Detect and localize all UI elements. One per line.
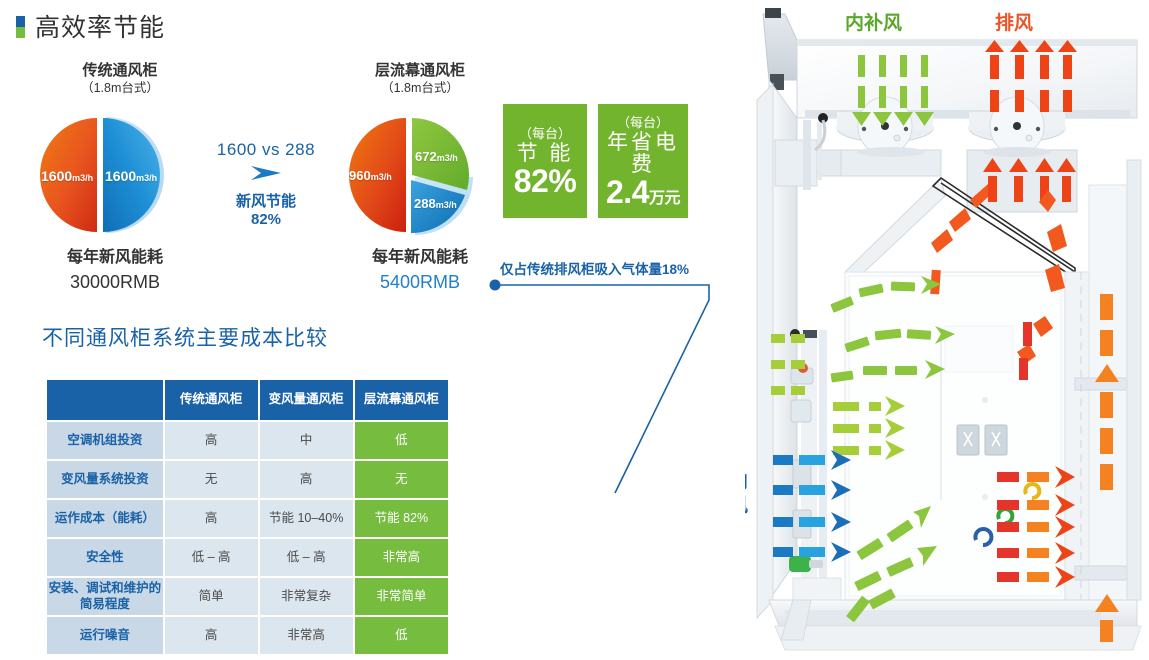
laminar-hood-pie-chart: 960m3/h 672m3/h 288m3/h — [345, 114, 473, 236]
pie-right-slice-1-label: 960m3/h — [349, 168, 392, 183]
pie-right-slice-3-unit: m3/h — [436, 200, 457, 210]
label-indoor-line2: 新风 — [745, 494, 748, 518]
row-label-hvac-investment: 空调机组投资 — [47, 422, 163, 459]
badge-annual-savings-number: 2.4 — [606, 174, 649, 210]
traditional-hood-annual-cost: 每年新风能耗 30000RMB — [20, 248, 210, 294]
row-label-installation-ease: 安装、调试和维护的简易程度 — [47, 578, 163, 615]
table-header-laminar: 层流幕通风柜 — [355, 380, 448, 420]
pie-left-slice-1-value: 1600 — [41, 168, 72, 184]
table-header-vav: 变风量通风柜 — [260, 380, 353, 420]
fresh-air-saving-label: 新风节能 — [196, 190, 336, 211]
pie-right-slice-1-unit: m3/h — [371, 172, 392, 182]
cell-opcost-laminar: 节能 82% — [355, 500, 448, 537]
row-label-noise: 运行噪音 — [47, 617, 163, 654]
badge-annual-savings-title: 年省电费 — [598, 132, 688, 176]
pie-left-slice-2-label: 1600m3/h — [105, 168, 157, 184]
badge-annual-savings-unit: 万元 — [649, 190, 680, 207]
table-header-traditional: 传统通风柜 — [165, 380, 258, 420]
cell-safety-laminar: 非常高 — [355, 539, 448, 576]
laminar-annual-value: 5400RMB — [330, 271, 510, 294]
pie-left-slice-2-unit: m3/h — [136, 173, 157, 183]
badge-annual-savings-sub: （每台） — [617, 112, 669, 131]
pie-right-slice-2-unit: m3/h — [437, 153, 458, 163]
badge-energy-saving-title: 节 能 — [517, 143, 574, 165]
page-title: 高效率节能 — [16, 8, 165, 44]
cell-install-vav: 非常复杂 — [260, 578, 353, 615]
cell-noise-traditional: 高 — [165, 617, 258, 654]
cell-noise-laminar: 低 — [355, 617, 448, 654]
table-row: 空调机组投资 高 中 低 — [47, 422, 448, 459]
right-arrow-icon — [196, 163, 336, 188]
laminar-hood-spec: （1.8m台式） — [330, 81, 510, 97]
pie-left-slice-1-label: 1600m3/h — [41, 168, 93, 184]
pie-right-slice-1-value: 960 — [349, 168, 371, 183]
fresh-air-saving-value: 82% — [196, 211, 336, 228]
cell-install-traditional: 简单 — [165, 578, 258, 615]
traditional-hood-name: 传统通风柜 — [20, 62, 220, 81]
label-indoor-fresh-air: 室内 新风 — [745, 470, 748, 518]
badge-energy-saving: （每台） 节 能 82% — [503, 104, 587, 218]
badge-annual-savings-value: 2.4万元 — [606, 176, 680, 210]
pie-right-slice-2-value: 672 — [415, 149, 437, 164]
cell-install-laminar: 非常简单 — [355, 578, 448, 615]
cell-hvac-laminar: 低 — [355, 422, 448, 459]
laminar-hood-annual-cost: 每年新风能耗 5400RMB — [330, 248, 510, 294]
left-content-panel: 高效率节能 传统通风柜 （1.8m台式） 层流幕通风柜 （1.8m台式） — [0, 0, 745, 660]
cell-noise-vav: 非常高 — [260, 617, 353, 654]
traditional-hood-spec: （1.8m台式） — [20, 81, 220, 97]
table-header-blank — [47, 380, 163, 420]
table-row: 变风量系统投资 无 高 无 — [47, 461, 448, 498]
table-row: 安全性 低 – 高 低 – 高 非常高 — [47, 539, 448, 576]
pie-left-slice-2-value: 1600 — [105, 168, 136, 184]
callout-label: 仅占传统排风柜吸入气体量18% — [500, 258, 689, 278]
row-label-operating-cost: 运作成本（能耗） — [47, 500, 163, 537]
fume-hood-airflow-illustration: 内补风 排风 室内 新风 — [745, 0, 1149, 660]
traditional-hood-heading: 传统通风柜 （1.8m台式） — [20, 62, 220, 96]
label-indoor-line1: 室内 — [745, 470, 748, 494]
badge-annual-savings: （每台） 年省电费 2.4万元 — [598, 104, 688, 218]
badge-energy-saving-value: 82% — [514, 165, 577, 199]
cell-opcost-vav: 节能 10–40% — [260, 500, 353, 537]
table-row: 安装、调试和维护的简易程度 简单 非常复杂 非常简单 — [47, 578, 448, 615]
cell-vavinv-traditional: 无 — [165, 461, 258, 498]
label-exhaust-air: 排风 — [995, 8, 1033, 35]
cell-opcost-traditional: 高 — [165, 500, 258, 537]
cell-safety-vav: 低 – 高 — [260, 539, 353, 576]
cell-vavinv-laminar: 无 — [355, 461, 448, 498]
traditional-annual-value: 30000RMB — [20, 271, 210, 294]
traditional-annual-label: 每年新风能耗 — [20, 248, 210, 269]
callout-leader-line — [487, 278, 722, 503]
pie-right-slice-3-label: 288m3/h — [414, 196, 457, 211]
laminar-annual-label: 每年新风能耗 — [330, 248, 510, 269]
cell-vavinv-vav: 高 — [260, 461, 353, 498]
page-title-text: 高效率节能 — [35, 8, 165, 44]
pie-left-slice-1-unit: m3/h — [72, 173, 93, 183]
pie-right-slice-3-value: 288 — [414, 196, 436, 211]
laminar-hood-name: 层流幕通风柜 — [330, 62, 510, 81]
badge-energy-saving-sub: （每台） — [519, 123, 571, 142]
cost-comparison-table: 传统通风柜 变风量通风柜 层流幕通风柜 空调机组投资 高 中 低 变风量系统投资… — [45, 378, 450, 656]
traditional-hood-pie-chart: 1600m3/h 1600m3/h — [35, 114, 165, 236]
laminar-hood-heading: 层流幕通风柜 （1.8m台式） — [330, 62, 510, 96]
cost-table-heading: 不同通风柜系统主要成本比较 — [42, 322, 328, 352]
pie-right-slice-2-label: 672m3/h — [415, 149, 458, 164]
row-label-safety: 安全性 — [47, 539, 163, 576]
cell-hvac-traditional: 高 — [165, 422, 258, 459]
table-header-row: 传统通风柜 变风量通风柜 层流幕通风柜 — [47, 380, 448, 420]
row-label-vav-investment: 变风量系统投资 — [47, 461, 163, 498]
savings-comparison: 1600 vs 288 新风节能 82% — [196, 140, 336, 228]
cell-hvac-vav: 中 — [260, 422, 353, 459]
fume-hood-cutaway-svg — [745, 0, 1149, 660]
table-row: 运作成本（能耗） 高 节能 10–40% 节能 82% — [47, 500, 448, 537]
title-marker-icon — [16, 16, 25, 38]
label-supply-air: 内补风 — [845, 8, 902, 35]
table-row: 运行噪音 高 非常高 低 — [47, 617, 448, 654]
cell-safety-traditional: 低 – 高 — [165, 539, 258, 576]
flow-ratio-text: 1600 vs 288 — [196, 140, 336, 160]
